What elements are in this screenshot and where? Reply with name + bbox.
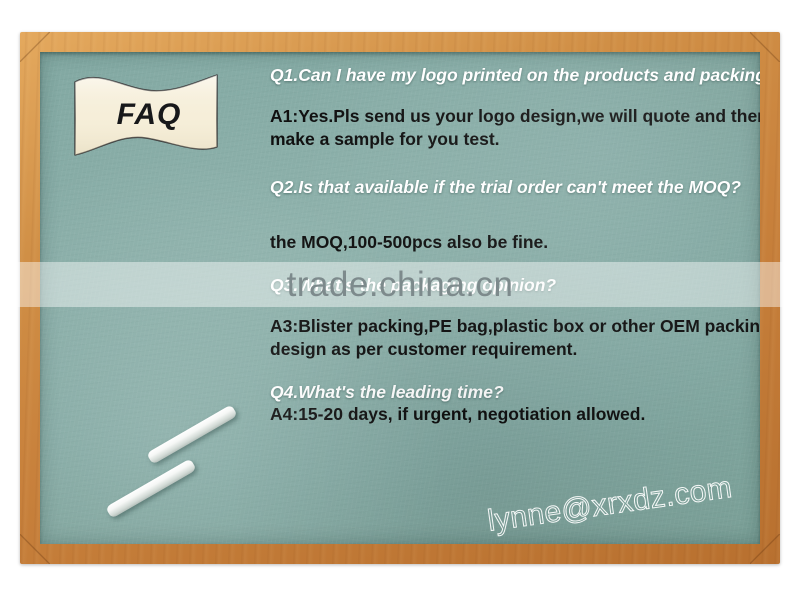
faq-item-4: Q4.What's the leading time? A4:15-20 day…	[270, 381, 760, 426]
faq-question-2: Q2.Is that available if the trial order …	[270, 176, 760, 198]
faq-answer-4: A4:15-20 days, if urgent, negotiation al…	[270, 403, 760, 426]
wooden-frame: FAQ Q1.Can I have my logo printed on the…	[20, 32, 780, 564]
spacer	[270, 296, 760, 315]
faq-item-1: Q1.Can I have my logo printed on the pro…	[270, 64, 760, 151]
ribbon-shape-icon	[72, 72, 220, 158]
chalk-stick-upper	[146, 404, 237, 464]
chalk-stick-lower	[105, 458, 196, 518]
spacer	[270, 198, 760, 217]
spacer	[270, 157, 760, 176]
faq-item-3: Q3.What's the packaging opinion? A3:Blis…	[270, 274, 760, 361]
faq-chalkboard-image: FAQ Q1.Can I have my logo printed on the…	[0, 0, 800, 600]
faq-text-column: Q1.Can I have my logo printed on the pro…	[270, 64, 760, 432]
faq-ribbon-banner: FAQ	[72, 72, 220, 158]
spacer	[270, 217, 760, 231]
spacer	[270, 260, 760, 274]
spacer	[270, 86, 760, 105]
chalkboard-surface: FAQ Q1.Can I have my logo printed on the…	[40, 52, 760, 544]
faq-answer-1: A1:Yes.Pls send us your logo design,we w…	[270, 105, 760, 151]
faq-item-2: Q2.Is that available if the trial order …	[270, 176, 760, 254]
faq-question-4: Q4.What's the leading time?	[270, 381, 760, 403]
faq-banner-label: FAQ	[72, 72, 220, 158]
faq-question-3: Q3.What's the packaging opinion?	[270, 274, 760, 296]
faq-answer-3: A3:Blister packing,PE bag,plastic box or…	[270, 315, 760, 361]
faq-question-1: Q1.Can I have my logo printed on the pro…	[270, 64, 760, 86]
spacer	[270, 367, 760, 381]
faq-answer-2: the MOQ,100-500pcs also be fine.	[270, 231, 760, 254]
